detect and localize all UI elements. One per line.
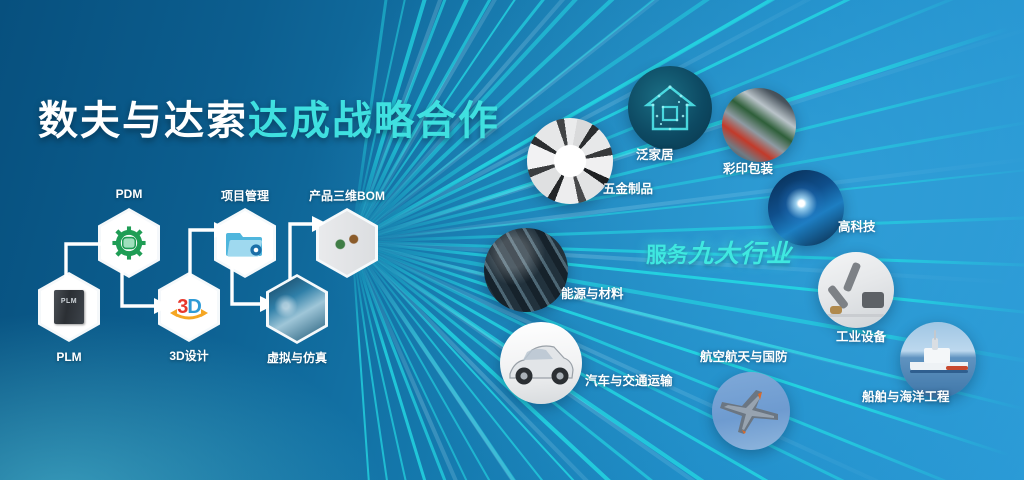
industrial-robot-arm-icon	[818, 252, 894, 328]
industry-label-automotive: 汽车与交通运输	[585, 370, 673, 389]
industry-label-hardware: 五金制品	[603, 178, 653, 197]
industry-label-printing: 彩印包装	[723, 158, 773, 177]
industry-label-hightech: 高科技	[838, 216, 876, 235]
jet-silhouette-icon	[712, 372, 790, 450]
folder-gear-icon	[226, 227, 264, 259]
3d-logo-icon: 3D	[177, 296, 201, 319]
logo-digit-3: 3	[177, 296, 187, 318]
industry-label-home: 泛家居	[636, 144, 674, 163]
smart-home-icon	[628, 66, 712, 150]
flow-node-3d-design[interactable]: 3D 3D设计	[158, 272, 220, 342]
house-outline-icon	[643, 83, 697, 133]
fighter-jet-icon	[712, 372, 790, 450]
industry-label-aerospace-defense: 航空航天与国防	[700, 346, 788, 365]
industry-label-industrial-equipment: 工业设备	[836, 326, 886, 345]
banner-canvas: 数夫与达索达成战略合作	[0, 0, 1024, 480]
flow-node-project-management[interactable]: 项目管理	[214, 208, 276, 278]
hardware-tools-icon	[527, 118, 613, 204]
plm-server-icon	[54, 290, 84, 324]
service-title-prefix: 服务	[646, 244, 688, 267]
logo-letter-d: D	[187, 296, 200, 318]
car-silhouette-icon	[500, 322, 582, 404]
flow-node-product-3d-bom[interactable]: 产品三维BOM	[316, 208, 378, 278]
industry-label-energy-materials: 能源与材料	[561, 283, 624, 302]
flow-node-label-product-3d-bom: 产品三维BOM	[272, 187, 422, 204]
flow-node-simulation[interactable]: 虚拟与仿真	[266, 274, 328, 344]
flow-node-plm[interactable]: PLM	[38, 272, 100, 342]
green-gear-icon	[112, 226, 146, 260]
printing-press-icon	[722, 88, 796, 162]
industry-label-marine: 船舶与海洋工程	[862, 386, 950, 405]
flow-node-pdm[interactable]: PDM	[98, 208, 160, 278]
service-title: 服务九大行业	[646, 234, 792, 270]
automobile-icon	[500, 322, 582, 404]
flow-node-label-simulation: 虚拟与仿真	[222, 349, 372, 366]
plm-flow-diagram: PLM	[0, 0, 430, 480]
materials-lattice-icon	[484, 228, 568, 312]
service-title-emphasis: 九大行业	[688, 240, 792, 268]
